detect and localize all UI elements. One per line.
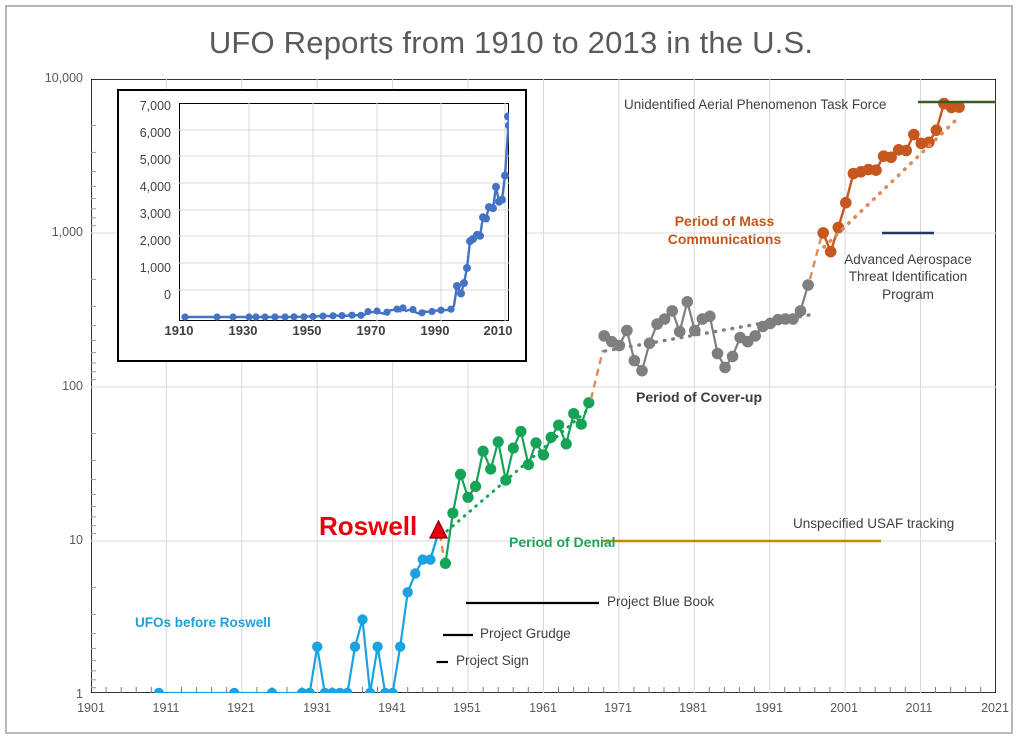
- inset-x-tick-1950: 1950: [280, 323, 334, 338]
- x-tick-1901: 1901: [61, 701, 121, 715]
- x-tick-1971: 1971: [588, 701, 648, 715]
- inset-y-tick-0: 0: [119, 288, 171, 302]
- page-title: UFO Reports from 1910 to 2013 in the U.S…: [7, 25, 1015, 61]
- x-tick-1911: 1911: [136, 701, 196, 715]
- x-tick-2001: 2001: [814, 701, 874, 715]
- main-plot-area: Number of UFO Reports 10,000 1,000 100 1…: [91, 79, 996, 693]
- inset-y-tick-7000: 7,000: [119, 99, 171, 113]
- y-tick-10: 10: [13, 533, 83, 547]
- inset-x-tick-1970: 1970: [344, 323, 398, 338]
- inset-x-tick-2010: 2010: [471, 323, 525, 338]
- inset-y-tick-6000: 6,000: [119, 126, 171, 140]
- y-tick-1000: 1,000: [13, 225, 83, 239]
- project-grudge-label: Project Grudge: [480, 625, 571, 642]
- x-tick-1921: 1921: [211, 701, 271, 715]
- uap-task-force-label: Unidentified Aerial Phenomenon Task Forc…: [624, 96, 886, 113]
- inset-y-tick-4000: 4,000: [119, 180, 171, 194]
- inset-x-tick-1990: 1990: [408, 323, 462, 338]
- inset-y-tick-2000: 2,000: [119, 234, 171, 248]
- inset-x-tick-1930: 1930: [216, 323, 270, 338]
- y-tick-100: 100: [13, 379, 83, 393]
- inset-chart: 7,000 6,000 5,000 4,000 3,000 2,000 1,00…: [117, 89, 527, 362]
- x-tick-2021: 2021: [965, 701, 1024, 715]
- chart-frame: UFO Reports from 1910 to 2013 in the U.S…: [5, 5, 1013, 734]
- inset-y-tick-5000: 5,000: [119, 153, 171, 167]
- period-of-denial-label: Period of Denial: [509, 534, 616, 550]
- x-tick-2011: 2011: [889, 701, 949, 715]
- aatip-line1: Advanced Aerospace: [844, 252, 972, 267]
- inset-y-tick-3000: 3,000: [119, 207, 171, 221]
- x-tick-1931: 1931: [287, 701, 347, 715]
- ufos-before-roswell-label: UFOs before Roswell: [135, 615, 271, 630]
- y-tick-10000: 10,000: [13, 71, 83, 85]
- x-tick-1941: 1941: [362, 701, 422, 715]
- period-of-mass-communications-label: Period of Mass Communications: [662, 212, 787, 248]
- mass-comm-line1: Period of Mass: [675, 213, 775, 229]
- project-blue-book-label: Project Blue Book: [607, 593, 714, 610]
- x-tick-1951: 1951: [437, 701, 497, 715]
- roswell-label: Roswell: [319, 511, 417, 542]
- inset-y-tick-1000: 1,000: [119, 261, 171, 275]
- project-sign-label: Project Sign: [456, 652, 529, 669]
- x-tick-1991: 1991: [739, 701, 799, 715]
- x-tick-1961: 1961: [513, 701, 573, 715]
- y-tick-1: 1: [13, 687, 83, 701]
- inset-chart-svg: [179, 103, 509, 321]
- aatip-line3: Program: [882, 287, 934, 302]
- aatip-label: Advanced Aerospace Threat Identification…: [828, 251, 988, 303]
- x-tick-1981: 1981: [663, 701, 723, 715]
- aatip-line2: Threat Identification: [849, 269, 968, 284]
- mass-comm-line2: Communications: [668, 231, 782, 247]
- inset-x-tick-1910: 1910: [152, 323, 206, 338]
- period-of-coverup-label: Period of Cover-up: [636, 389, 762, 405]
- usaf-tracking-label: Unspecified USAF tracking: [793, 515, 954, 532]
